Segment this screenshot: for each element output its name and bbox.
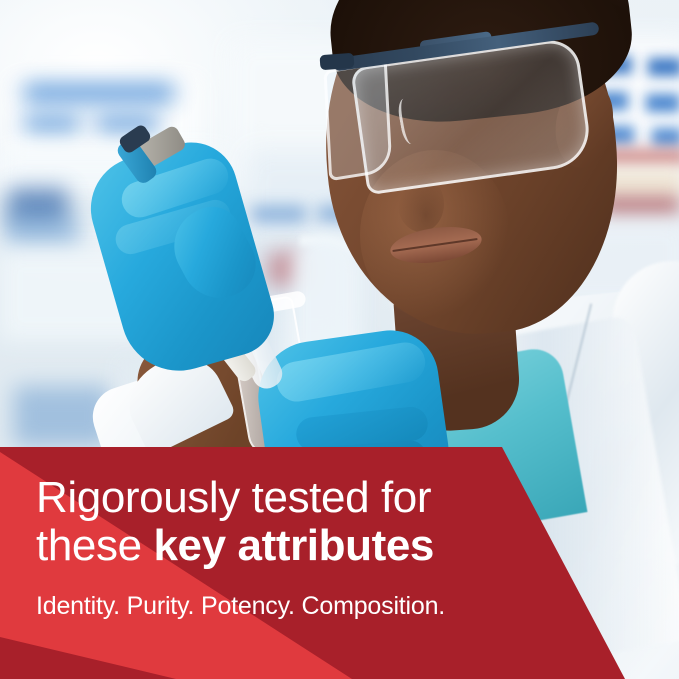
banner-text-block: Rigorously tested for these key attribut… — [36, 474, 636, 621]
banner-image: Rigorously tested for these key attribut… — [0, 0, 679, 679]
headline-line-2: these key attributes — [36, 522, 636, 570]
subheadline: Identity. Purity. Potency. Composition. — [36, 591, 636, 621]
headline: Rigorously tested for these key attribut… — [36, 474, 636, 570]
headline-line-2-light: these — [36, 521, 153, 570]
headline-line-1: Rigorously tested for — [36, 474, 636, 522]
headline-line-2-bold: key attributes — [153, 521, 434, 570]
